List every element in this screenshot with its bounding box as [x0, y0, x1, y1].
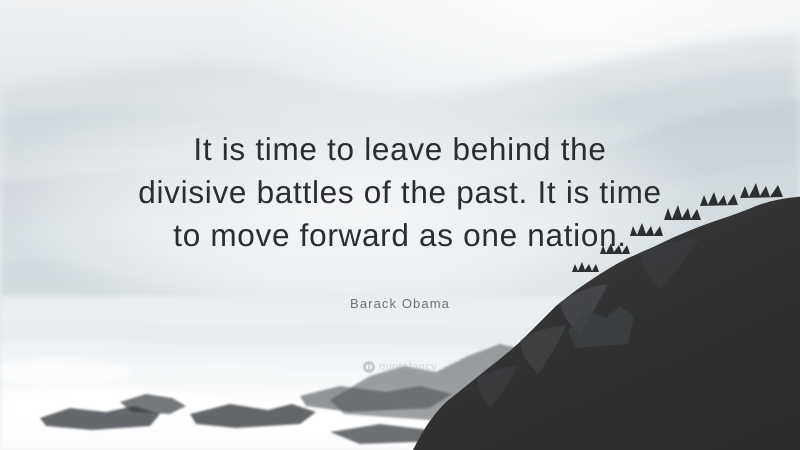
watermark[interactable]: quotefancy	[0, 361, 800, 373]
quote-line-2: divisive battles of the past. It is time	[0, 171, 800, 214]
quote-line-1: It is time to leave behind the	[0, 128, 800, 171]
quote-author: Barack Obama	[0, 296, 800, 311]
quote-line-3: to move forward as one nation.	[0, 214, 800, 257]
quote-poster: It is time to leave behind the divisive …	[0, 0, 800, 450]
quote-badge-icon	[363, 361, 375, 373]
watermark-text: quotefancy	[379, 361, 437, 373]
quote-block: It is time to leave behind the divisive …	[0, 128, 800, 257]
